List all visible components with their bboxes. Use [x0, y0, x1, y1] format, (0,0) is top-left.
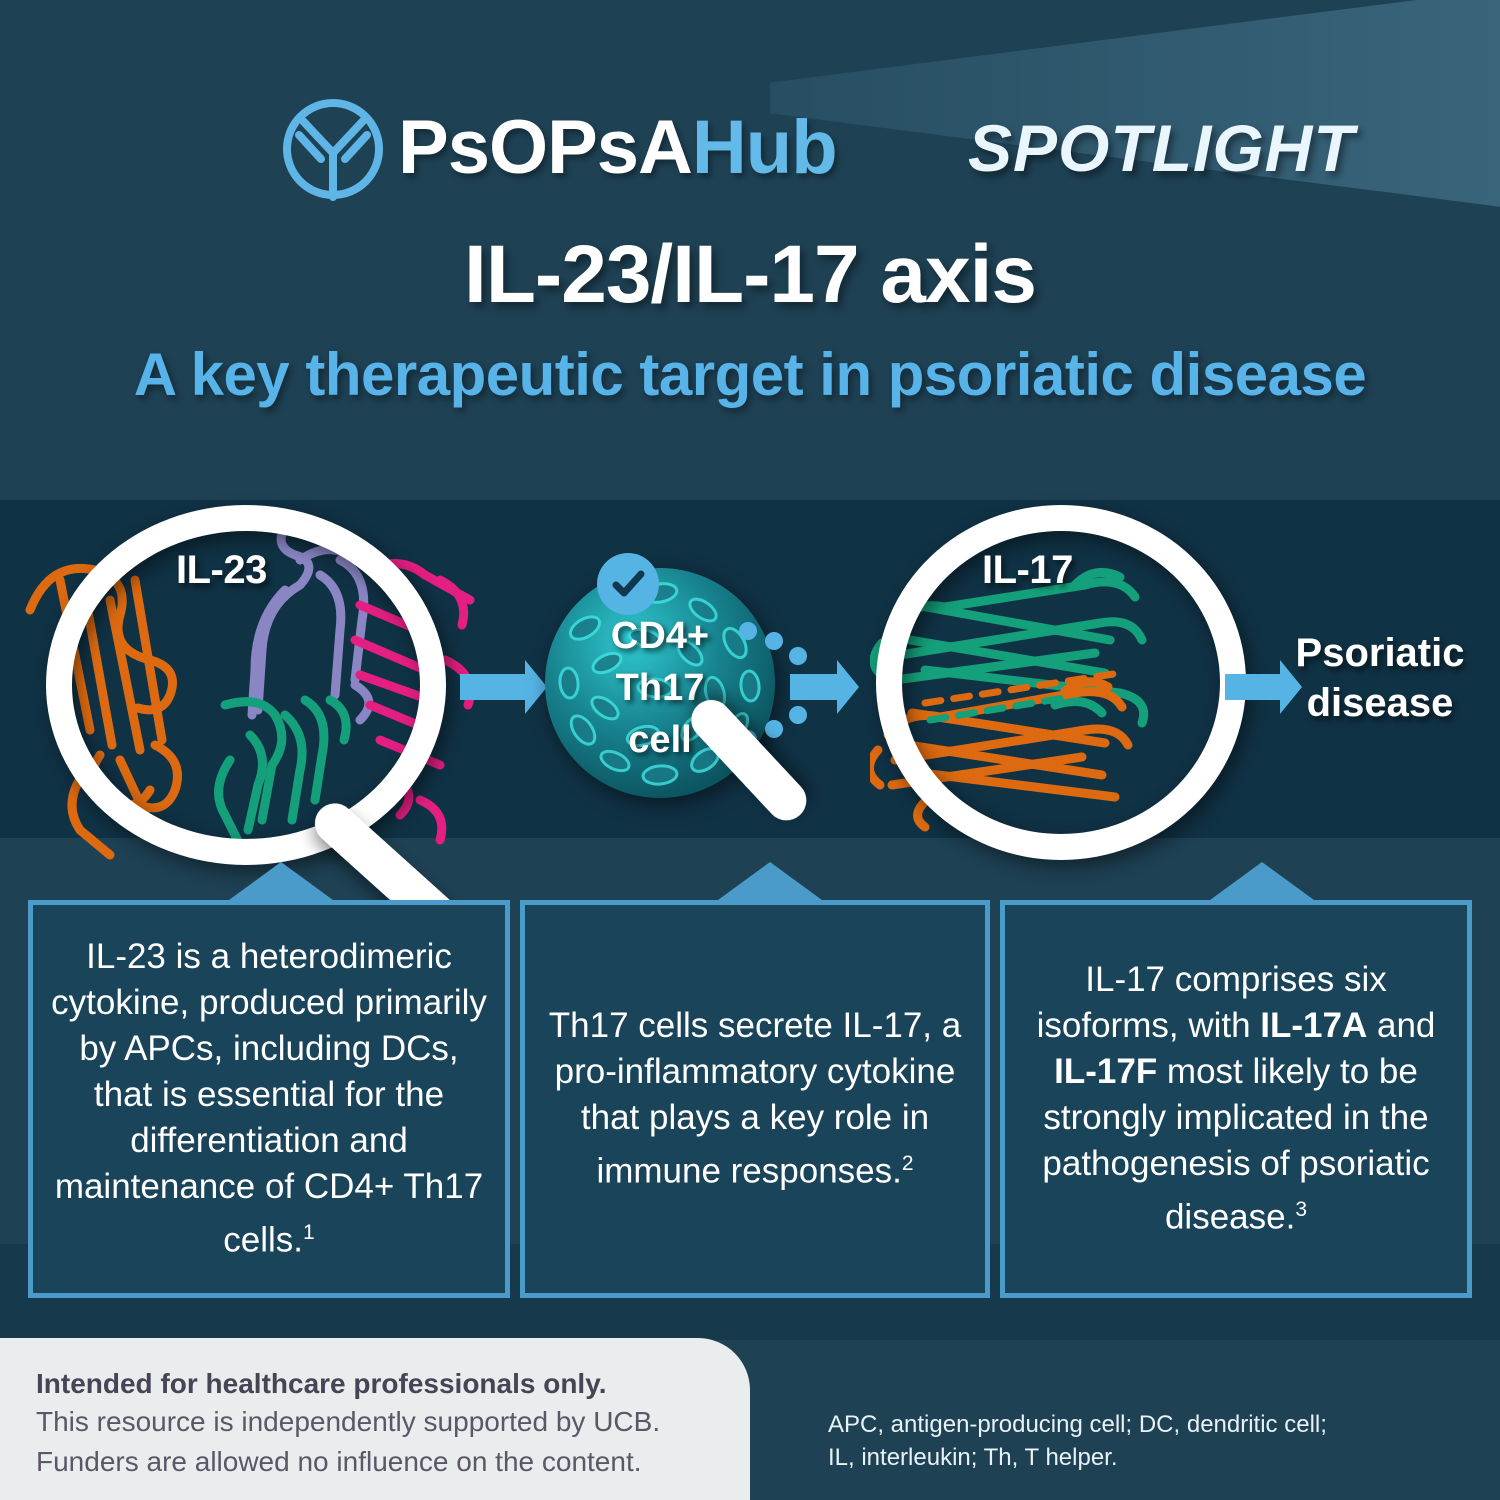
infographic-canvas: PsOPsAHub SPOTLIGHT IL-23/IL-17 axis A k… — [0, 0, 1500, 1500]
info-box-il23: IL-23 is a heterodimeric cytokine, produ… — [28, 900, 510, 1298]
info-box-il23-text: IL-23 is a heterodimeric cytokine, produ… — [33, 934, 505, 1264]
abbreviations: APC, antigen-producing cell; DC, dendrit… — [828, 1408, 1327, 1474]
brand-name-hub: Hub — [692, 105, 837, 190]
pointer-triangle-2 — [718, 862, 822, 900]
footer-disclaimer-line2: Funders are allowed no influence on the … — [36, 1446, 642, 1478]
check-circle-icon — [597, 553, 659, 615]
info-box-th17: Th17 cells secrete IL-17, a pro-inflamma… — [520, 900, 990, 1298]
il17-label: IL-17 — [982, 548, 1073, 593]
pointer-triangle-3 — [1210, 862, 1314, 900]
page-title: IL-23/IL-17 axis — [0, 228, 1500, 322]
arrow-right-icon-2 — [790, 674, 842, 700]
brand-name-primary: PsOPsA — [398, 105, 692, 190]
psopsahub-y-circle-logo-icon — [277, 93, 389, 205]
arrow-right-icon-1 — [460, 674, 530, 700]
outcome-label: Psoriatic disease — [1270, 628, 1490, 728]
outcome-line1: Psoriatic — [1270, 628, 1490, 678]
header: PsOPsAHub SPOTLIGHT — [0, 40, 1500, 170]
footer-disclaimer-title: Intended for healthcare professionals on… — [36, 1368, 607, 1400]
pointer-triangle-1 — [229, 862, 333, 900]
spotlight-label: SPOTLIGHT — [968, 100, 1355, 196]
page-subtitle: A key therapeutic target in psoriatic di… — [0, 340, 1500, 409]
info-box-th17-text: Th17 cells secrete IL-17, a pro-inflamma… — [525, 1003, 985, 1195]
brand-wordmark: PsOPsAHub — [398, 95, 837, 201]
info-box-il17-text: IL-17 comprises six isoforms, with IL-17… — [1005, 957, 1467, 1241]
abbreviations-line1: APC, antigen-producing cell; DC, dendrit… — [828, 1408, 1327, 1441]
outcome-line2: disease — [1270, 678, 1490, 728]
footer-disclaimer-line1: This resource is independently supported… — [36, 1406, 660, 1438]
abbreviations-line2: IL, interleukin; Th, T helper. — [828, 1441, 1327, 1474]
il23-label: IL-23 — [176, 548, 267, 593]
info-box-il17: IL-17 comprises six isoforms, with IL-17… — [1000, 900, 1472, 1298]
